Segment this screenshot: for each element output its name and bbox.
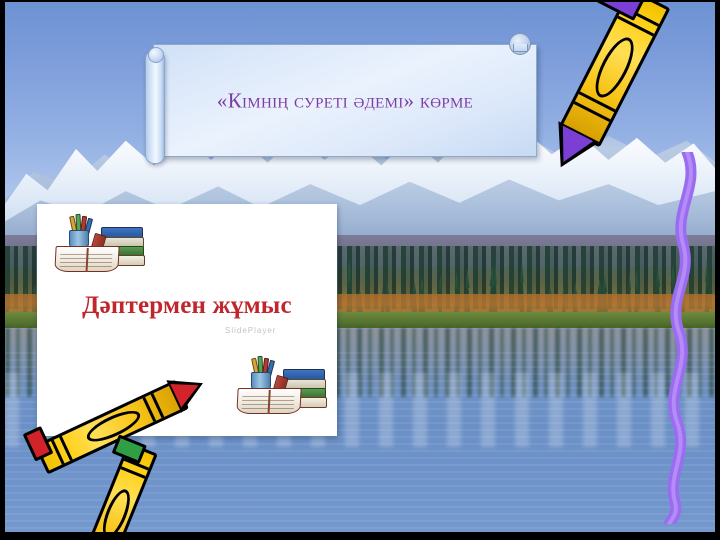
scroll-left-cap (148, 47, 164, 63)
title-banner: «Кімнің суреті әдемі» көрме (153, 44, 537, 157)
crayon-icon-bottom-left-b (117, 442, 317, 540)
slide-title: «Кімнің суреті әдемі» көрме (154, 88, 536, 113)
scroll-left-roll (145, 50, 165, 164)
open-book-text-lines (242, 396, 295, 410)
books-clipart-top-left (55, 214, 155, 276)
open-book-text-lines (60, 254, 113, 268)
books-clipart-bottom-right (237, 356, 337, 418)
wavy-line-icon (657, 152, 720, 524)
watermark-text: SlidePlayer (225, 326, 276, 335)
scroll-right-tail (513, 44, 528, 52)
crayon-icon-top-right (603, 0, 720, 177)
card-title: Дәптермен жұмыс (37, 292, 337, 320)
presentation-slide: «Кімнің суреті әдемі» көрме Дәптермен жұ… (0, 0, 720, 540)
